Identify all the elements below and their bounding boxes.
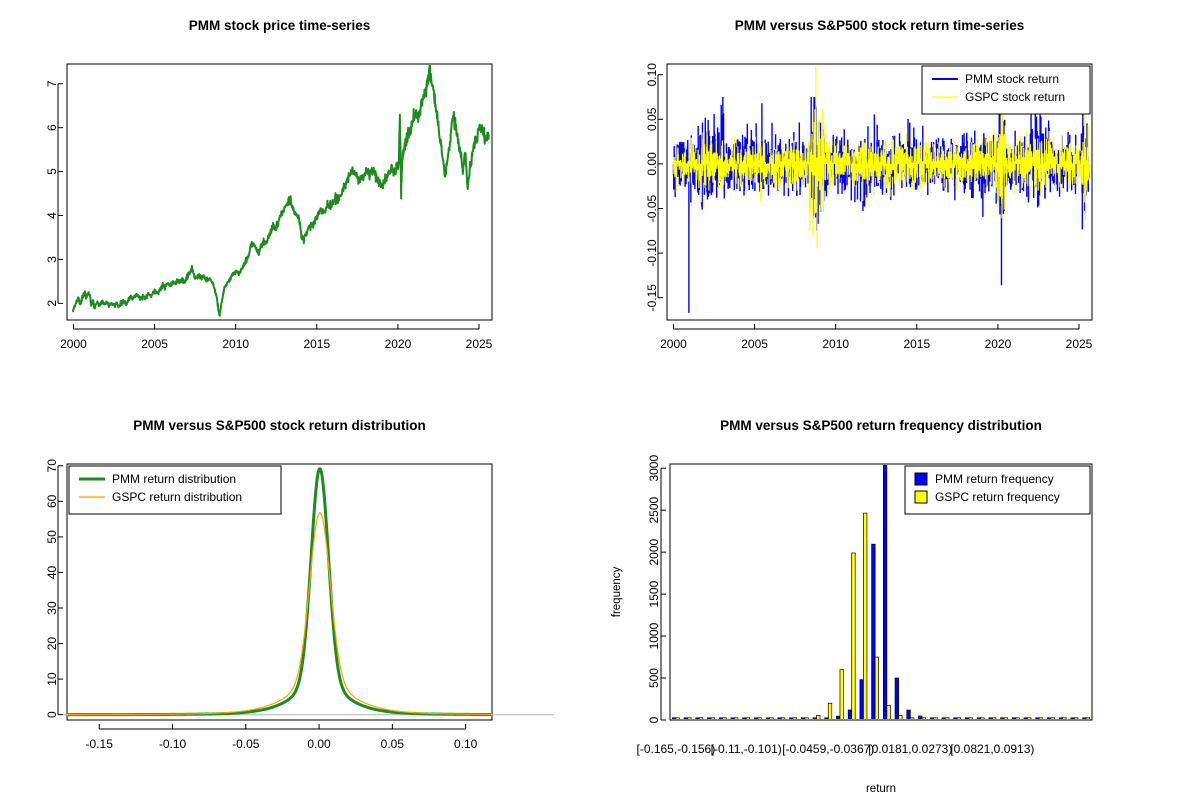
x-tick-label: 2025 (1066, 337, 1093, 351)
x-tick-label: 2025 (466, 337, 493, 351)
x-tick-label: 2010 (822, 337, 849, 351)
bar (863, 513, 867, 720)
y-tick-label: 5 (45, 168, 59, 175)
x-tick-label: [-0.11,-0.101) (711, 742, 782, 756)
bar (836, 716, 840, 720)
x-tick-label: 0.10 (454, 737, 478, 751)
y-tick-label: 4 (45, 212, 59, 219)
y-axis: 234567 (45, 80, 63, 307)
x-axis-label: return (866, 783, 896, 795)
x-tick-label: 2010 (222, 337, 249, 351)
figure-canvas: PMM stock price time-series2000200520102… (0, 0, 1200, 800)
bar (895, 678, 899, 720)
x-tick-label: 0.05 (381, 737, 405, 751)
legend: PMM return frequencyGSPC return frequenc… (905, 466, 1090, 514)
bar (860, 680, 864, 720)
y-tick-label: 20 (45, 637, 59, 651)
chart-pmm-gspc-return-frequency: PMM versus S&P500 return frequency distr… (600, 400, 1200, 800)
chart-title: PMM versus S&P500 return frequency distr… (720, 418, 1042, 433)
panel-pmm-gspc-return-timeseries: PMM versus S&P500 stock return time-seri… (600, 0, 1200, 400)
x-tick-label: 2020 (985, 337, 1012, 351)
legend-label: PMM stock return (965, 72, 1059, 86)
panel-pmm-gspc-return-frequency: PMM versus S&P500 return frequency distr… (600, 400, 1200, 800)
y-tick-label: 1000 (647, 622, 661, 649)
x-tick-label: [-0.165,-0.156) (637, 742, 716, 756)
y-tick-label: 7 (45, 80, 59, 87)
legend-label: GSPC stock return (965, 90, 1065, 104)
bar (883, 464, 887, 720)
y-tick-label: 10 (45, 672, 59, 686)
y-tick-label: 2500 (647, 496, 661, 523)
x-tick-label: 2015 (903, 337, 930, 351)
bar (919, 716, 923, 720)
x-tick-label: -0.05 (232, 737, 260, 751)
density-gspc (67, 513, 492, 715)
y-tick-label: 6 (45, 124, 59, 131)
x-tick-label: [0.0821,0.0913) (950, 742, 1034, 756)
y-tick-label: 500 (647, 668, 661, 688)
chart-title: PMM versus S&P500 stock return distribut… (133, 418, 426, 433)
y-tick-label: -0.15 (645, 284, 659, 312)
panel-pmm-gspc-return-distribution: PMM versus S&P500 stock return distribut… (0, 400, 600, 800)
x-tick-label: 2005 (141, 337, 168, 351)
return-series-pmm (673, 97, 1088, 313)
y-tick-label: 0 (647, 716, 661, 723)
bar (875, 657, 879, 720)
x-axis: [-0.165,-0.156)[-0.11,-0.101)[-0.0459,-0… (637, 742, 1035, 756)
legend-label: GSPC return distribution (112, 490, 242, 504)
y-tick-label: 0.05 (645, 107, 659, 131)
chart-pmm-gspc-return-distribution: PMM versus S&P500 stock return distribut… (0, 400, 600, 800)
x-tick-label: 0.00 (307, 737, 331, 751)
y-tick-label: 0.10 (645, 63, 659, 87)
x-tick-label: -0.10 (159, 737, 187, 751)
x-axis: 200020052010201520202025 (60, 324, 493, 351)
legend-label: GSPC return frequency (935, 490, 1060, 504)
legend-label: PMM return distribution (112, 472, 236, 486)
chart-pmm-gspc-return-timeseries: PMM versus S&P500 stock return time-seri… (600, 0, 1200, 400)
x-tick-label: 2020 (385, 337, 412, 351)
legend-swatch (915, 491, 927, 503)
chart-pmm-price-timeseries: PMM stock price time-series2000200520102… (0, 0, 600, 400)
y-tick-label: 50 (45, 530, 59, 544)
legend: PMM stock returnGSPC stock return (922, 66, 1090, 114)
x-axis: -0.15-0.10-0.050.000.050.10 (86, 724, 478, 751)
y-tick-label: 40 (45, 565, 59, 579)
y-tick-label: 2000 (647, 538, 661, 565)
bar (840, 670, 844, 720)
y-tick-label: 60 (45, 494, 59, 508)
x-axis: 200020052010201520202025 (660, 324, 1093, 351)
bar (872, 544, 876, 720)
legend-label: PMM return frequency (935, 472, 1054, 486)
y-axis: 010203040506070 (45, 459, 63, 718)
bar (899, 715, 903, 720)
y-tick-label: -0.10 (645, 239, 659, 267)
y-tick-label: 2 (45, 300, 59, 307)
x-tick-label: 2000 (60, 337, 87, 351)
x-tick-label: 2005 (741, 337, 768, 351)
y-axis: 050010001500200025003000 (647, 455, 666, 724)
legend-swatch (915, 473, 927, 485)
y-axis-label: frequency (611, 567, 623, 618)
x-tick-label: [0.0181,0.0273) (868, 742, 952, 756)
bar (817, 715, 821, 720)
y-tick-label: 0 (45, 711, 59, 718)
bar (907, 710, 911, 720)
bar (887, 705, 891, 720)
x-tick-label: 2000 (660, 337, 687, 351)
bar (848, 710, 852, 720)
y-tick-label: 30 (45, 601, 59, 615)
y-tick-label: 3 (45, 256, 59, 263)
chart-title: PMM versus S&P500 stock return time-seri… (735, 18, 1025, 33)
x-tick-label: [-0.0459,-0.0367) (782, 742, 874, 756)
panel-pmm-price-timeseries: PMM stock price time-series2000200520102… (0, 0, 600, 400)
legend: PMM return distributionGSPC return distr… (69, 466, 281, 514)
y-tick-label: 0.00 (645, 152, 659, 176)
chart-title: PMM stock price time-series (189, 18, 371, 33)
bar (828, 703, 832, 720)
x-tick-label: 2015 (303, 337, 330, 351)
x-tick-label: -0.15 (86, 737, 114, 751)
y-tick-label: 70 (45, 459, 59, 473)
plot-box (67, 64, 492, 320)
y-tick-label: 1500 (647, 580, 661, 607)
y-tick-label: -0.05 (645, 195, 659, 223)
y-tick-label: 3000 (647, 455, 661, 482)
y-axis: 0.100.050.00-0.05-0.10-0.15 (645, 63, 663, 312)
bar (852, 553, 856, 720)
price-line (73, 63, 489, 315)
